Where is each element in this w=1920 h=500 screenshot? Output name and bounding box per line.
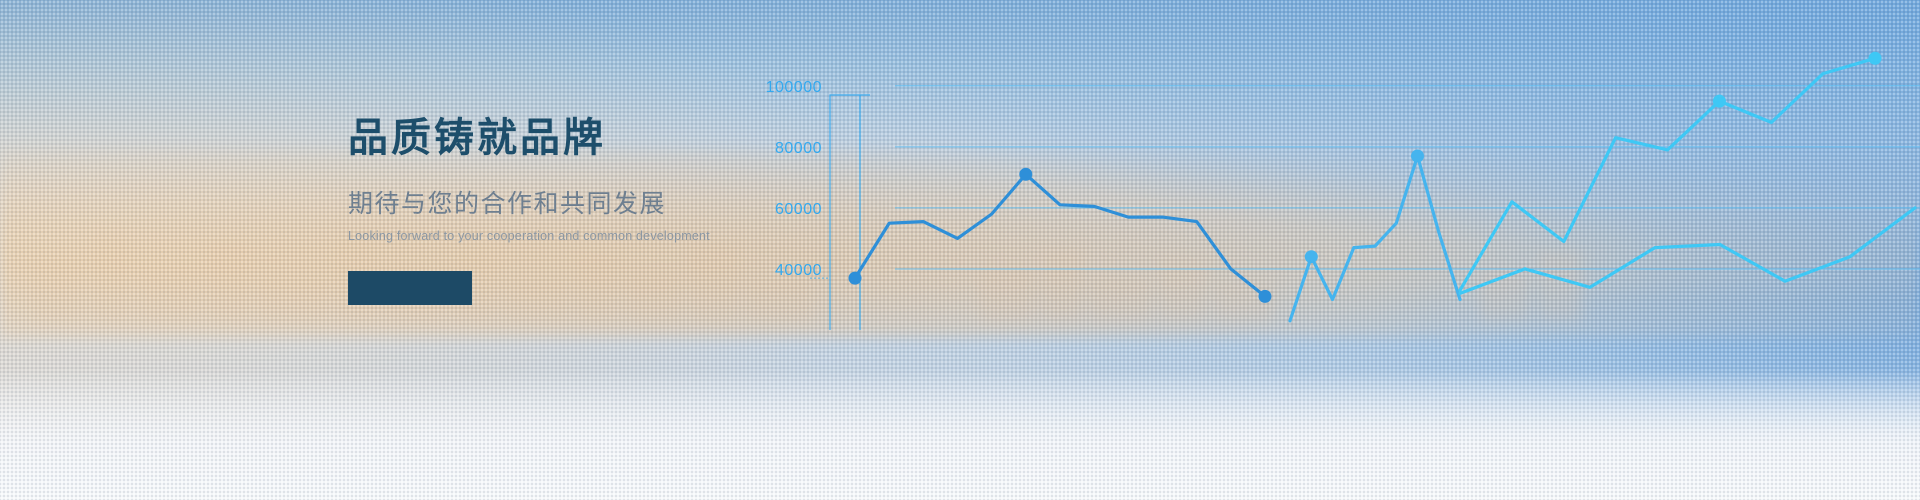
banner-title: 品质铸就品牌 xyxy=(348,118,768,158)
y-tick-label: 80000 xyxy=(775,140,822,157)
banner-subtitle-english: Looking forward to your cooperation and … xyxy=(348,230,768,243)
y-tick-label: 40000 xyxy=(775,262,822,279)
chart-point-marker xyxy=(849,272,862,285)
y-tick-label: 60000 xyxy=(775,201,822,218)
chart-point-marker xyxy=(1305,250,1318,263)
chart-line-series-4 xyxy=(1460,208,1915,294)
banner-copy: 品质铸就品牌 期待与您的合作和共同发展 Looking forward to y… xyxy=(348,118,768,305)
y-axis-line xyxy=(830,95,870,330)
chart-series-group xyxy=(849,52,1916,321)
chart-line-series-1 xyxy=(855,174,1265,296)
chart-svg: 100000800006000040000 xyxy=(760,0,1920,500)
chart-point-marker xyxy=(1019,168,1032,181)
chart-point-marker xyxy=(1411,150,1424,163)
banner-cta-button[interactable] xyxy=(348,271,472,305)
y-tick-label: 100000 xyxy=(766,79,822,96)
chart-point-marker xyxy=(1713,95,1726,108)
chart-gridlines xyxy=(895,86,1920,269)
chart-line-series-2 xyxy=(1290,156,1460,321)
chart-y-tick-labels: 100000800006000040000 xyxy=(766,79,822,279)
chart-point-marker xyxy=(1869,52,1882,65)
hero-banner: 品质铸就品牌 期待与您的合作和共同发展 Looking forward to y… xyxy=(0,0,1920,500)
chart-point-marker xyxy=(1259,290,1272,303)
banner-subtitle: 期待与您的合作和共同发展 xyxy=(348,192,768,217)
chart-line-series-3 xyxy=(1460,58,1875,290)
line-chart: 100000800006000040000 xyxy=(760,0,1920,500)
